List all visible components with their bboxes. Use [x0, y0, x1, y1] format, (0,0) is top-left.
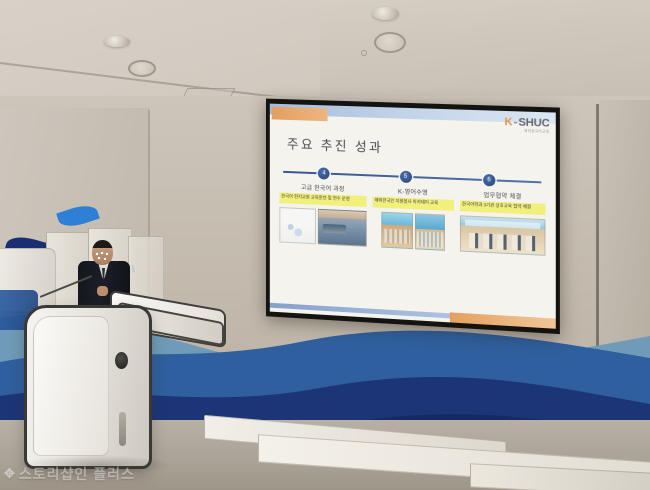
column-heading: 업무협약 체결	[484, 190, 522, 201]
beach-group-photo-thumbnail	[415, 213, 445, 251]
watermark-mark-icon: ✥	[4, 466, 16, 482]
column-thumbnails	[279, 207, 366, 247]
timeline-node: 6	[483, 174, 495, 187]
column-highlight-text: 해외한국인 지원봉사 아카데미 교육	[372, 196, 453, 211]
slide-column: K-영어수영 해외한국인 지원봉사 아카데미 교육	[372, 185, 453, 308]
ceiling-downlight-icon	[372, 7, 399, 20]
column-highlight-text: 한국어 현지교원 교육훈련 및 연수 운영	[279, 192, 366, 207]
watermark: ✥ 스토리샵인 플러스	[4, 464, 135, 484]
column-heading: K-영어수영	[398, 186, 428, 196]
logo-dash: -	[514, 117, 518, 128]
logo-subtitle: 해외한국어교육	[524, 128, 549, 134]
watermark-text: 스토리샵인 플러스	[19, 464, 135, 484]
ceiling-downlight-icon	[104, 36, 130, 47]
signing-ceremony-photo-thumbnail	[460, 215, 545, 256]
classroom-photo-thumbnail	[318, 209, 367, 247]
photo-scene: K - SHUC 해외한국어교육 주요 추진 성과 4 5 6 고급 한국어 과…	[0, 0, 650, 490]
ceiling-speaker-icon	[128, 60, 156, 77]
column-thumbnails	[372, 211, 453, 251]
column-highlight-text: 한국어학과 3기관 상호교육 협약 체결	[460, 200, 545, 215]
slide-column: 업무협약 체결 한국어학과 3기관 상호교육 협약 체결	[460, 189, 545, 314]
column-thumbnails	[460, 215, 545, 256]
podium-front-panel	[33, 316, 109, 456]
slide-column: 고급 한국어 과정 한국어 현지교원 교육훈련 및 연수 운영	[279, 182, 366, 304]
presentation-slide: K - SHUC 해외한국어교육 주요 추진 성과 4 5 6 고급 한국어 과…	[270, 104, 556, 329]
bottom-banner-orange-tab	[450, 312, 556, 328]
presenter-hand	[97, 286, 108, 296]
slide-top-banner: K - SHUC 해외한국어교육	[270, 104, 556, 132]
ceiling-speaker-icon	[374, 32, 406, 53]
slide-columns: 고급 한국어 과정 한국어 현지교원 교육훈련 및 연수 운영 K-영어수영 해…	[279, 182, 545, 314]
slide-title: 주요 추진 성과	[287, 134, 556, 163]
timeline-node: 4	[318, 167, 330, 179]
column-heading: 고급 한국어 과정	[301, 182, 345, 193]
timeline-node: 5	[400, 171, 412, 183]
screen-surface: K - SHUC 해외한국어교육 주요 추진 성과 4 5 6 고급 한국어 과…	[270, 104, 556, 329]
logo-letter-k: K	[505, 117, 513, 128]
podium-knob-icon	[115, 352, 128, 369]
face-blur-overlay	[95, 252, 110, 261]
podium-handle	[119, 412, 126, 446]
projection-screen: K - SHUC 해외한국어교육 주요 추진 성과 4 5 6 고급 한국어 과…	[266, 99, 560, 335]
podium	[24, 305, 152, 469]
beach-scuba-photo-thumbnail	[381, 212, 413, 249]
sprinkler-icon	[361, 50, 367, 56]
top-banner-orange-tab	[272, 107, 328, 122]
document-thumbnail	[279, 207, 316, 244]
